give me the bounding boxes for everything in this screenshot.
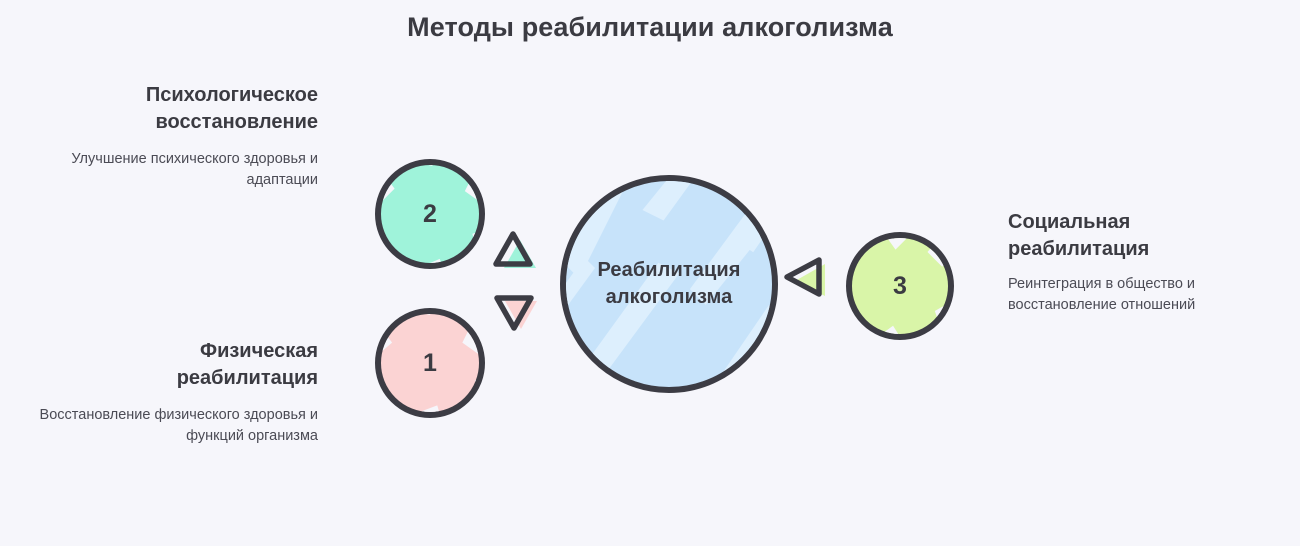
block-heading-social: Социальная реабилитация <box>1008 209 1268 263</box>
heading-line-1: Физическая <box>200 340 318 362</box>
heading-line-2: восстановление <box>155 111 318 133</box>
block-heading-physical: Физическая реабилитация <box>13 338 318 392</box>
center-node-label: Реабилитация алкоголизма <box>597 257 740 310</box>
text-block-psychological: Психологическое восстановление Улучшение… <box>13 82 318 192</box>
heading-line-1: Психологическое <box>146 84 318 106</box>
text-block-social: Социальная реабилитация Реинтеграция в о… <box>1008 209 1268 317</box>
node-circle-3[interactable]: 3 <box>846 232 954 340</box>
block-body-social: Реинтеграция в общество и восстановление… <box>1008 274 1268 317</box>
center-label-line-2: алкоголизма <box>606 286 733 308</box>
block-body-physical: Восстановление физического здоровья и фу… <box>13 405 318 448</box>
node-3-number: 3 <box>893 272 907 301</box>
block-heading-psychological: Психологическое восстановление <box>13 82 318 136</box>
node-2-number: 2 <box>423 200 437 229</box>
text-block-physical: Физическая реабилитация Восстановление ф… <box>13 338 318 448</box>
center-label-line-1: Реабилитация <box>597 259 740 281</box>
node-1-number: 1 <box>423 349 437 378</box>
center-node-rehabilitation[interactable]: Реабилитация алкоголизма <box>560 175 778 393</box>
heading-line-2: реабилитация <box>177 367 318 389</box>
arrow-down-icon <box>494 296 540 342</box>
block-body-psychological: Улучшение психического здоровья и адапта… <box>13 149 318 192</box>
page-title: Методы реабилитации алкоголизма <box>0 12 1300 43</box>
heading-line-1: Социальная <box>1008 211 1130 233</box>
node-circle-2[interactable]: 2 <box>375 159 485 269</box>
node-circle-1[interactable]: 1 <box>375 308 485 418</box>
arrow-up-icon <box>494 228 540 274</box>
heading-line-2: реабилитация <box>1008 238 1149 260</box>
arrow-left-icon <box>781 256 833 308</box>
diagram-canvas: Методы реабилитации алкоголизма Психолог… <box>0 0 1300 546</box>
